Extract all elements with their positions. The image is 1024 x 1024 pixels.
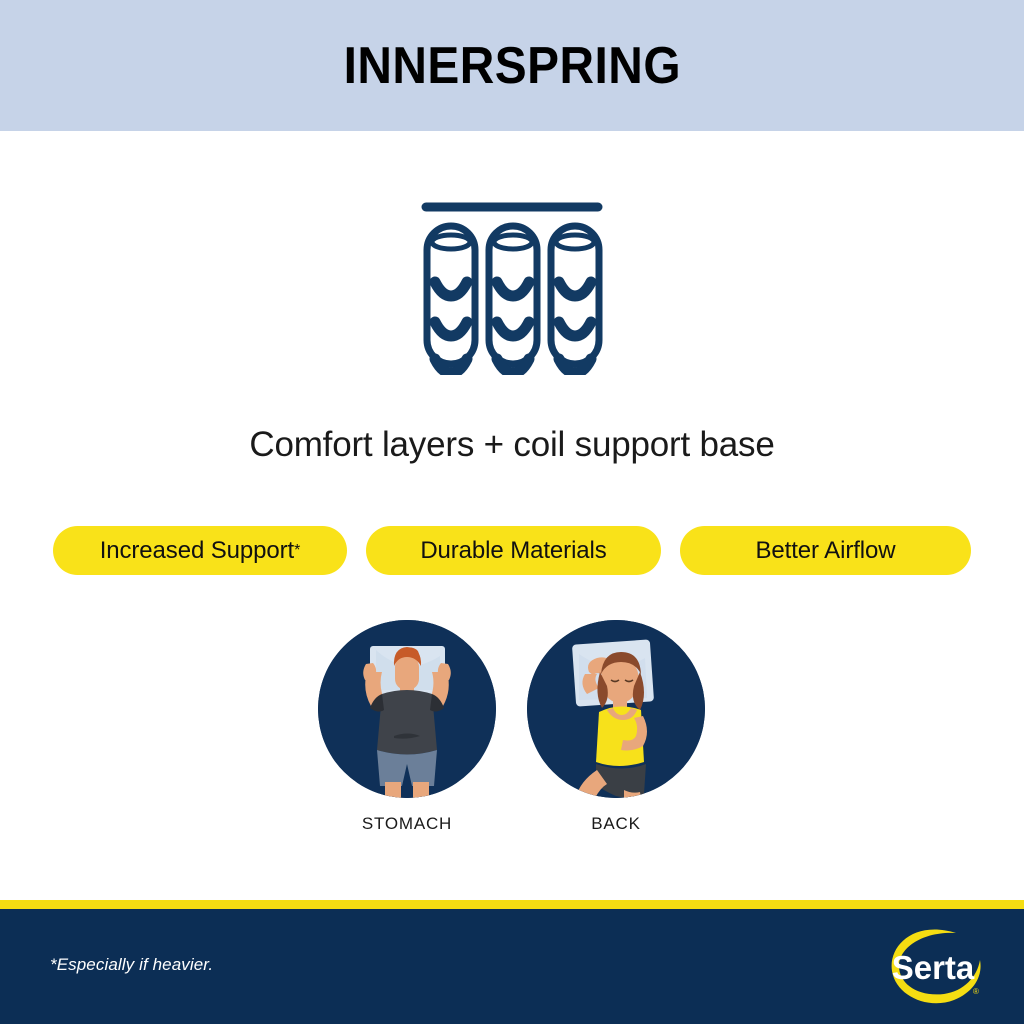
serta-logo[interactable]: Serta ® [884, 924, 988, 1010]
footnote-text: *Especially if heavier. [50, 955, 213, 975]
page-title: INNERSPRING [343, 36, 680, 96]
footer-rule [0, 900, 1024, 909]
back-sleeper-illustration [527, 620, 705, 798]
feature-pill-durable-materials[interactable]: Durable Materials [366, 526, 661, 575]
subtitle: Comfort layers + coil support base [0, 425, 1024, 465]
stomach-sleeper-illustration [318, 620, 496, 798]
sleep-position-back[interactable]: BACK [527, 620, 705, 834]
feature-pill-better-airflow[interactable]: Better Airflow [680, 526, 971, 575]
feature-pill-label: Increased Support [100, 537, 294, 565]
feature-pill-row: Increased Support* Durable Materials Bet… [53, 526, 971, 575]
registered-mark: ® [973, 987, 979, 996]
sleep-positions-group: STOMACH [300, 620, 724, 870]
sleep-position-label: STOMACH [318, 814, 496, 834]
sleep-position-stomach[interactable]: STOMACH [318, 620, 496, 834]
header-band: INNERSPRING [0, 0, 1024, 131]
feature-pill-increased-support[interactable]: Increased Support* [53, 526, 347, 575]
sleep-position-label: BACK [527, 814, 705, 834]
serta-wordmark: Serta [892, 949, 975, 986]
innerspring-infographic: INNERSPRING [0, 0, 1024, 1024]
coil-springs-icon [412, 195, 612, 375]
feature-pill-label: Durable Materials [420, 537, 606, 565]
feature-pill-label: Better Airflow [756, 537, 896, 565]
